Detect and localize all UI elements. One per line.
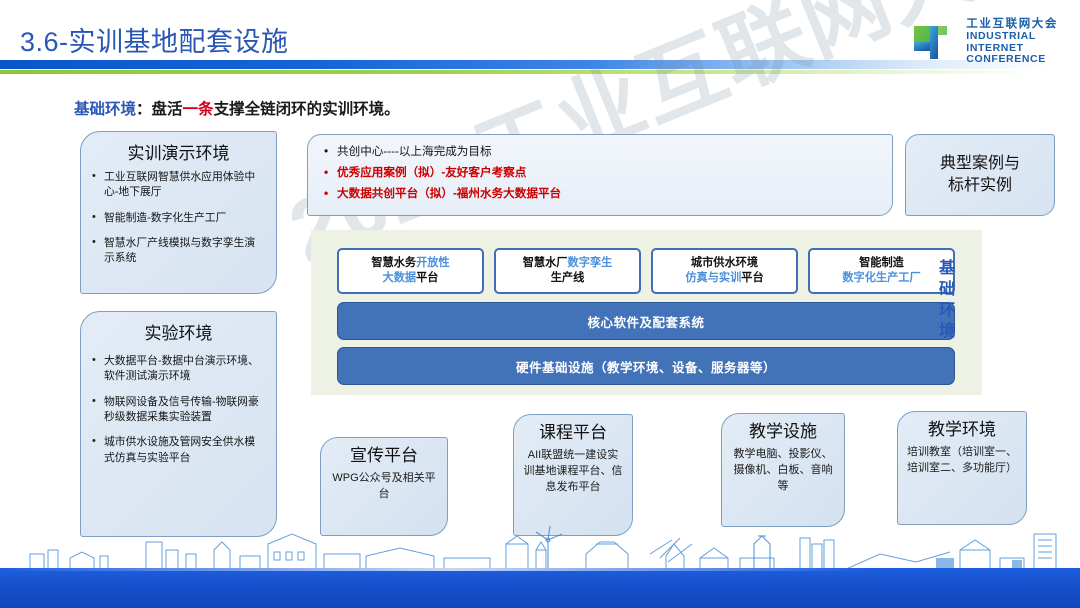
card-title: 实验环境 <box>81 312 276 344</box>
divider-green-bar <box>0 70 1080 74</box>
lead-statement: 基础环境：盘活一条支撑全链闭环的实训环境。 <box>74 97 400 119</box>
card-bullet-list: 工业互联网智慧供水应用体验中心-地下展厅 智能制造-数字化生产工厂 智慧水厂产线… <box>81 164 276 267</box>
card-training-demo-environment[interactable]: 实训演示环境 工业互联网智慧供水应用体验中心-地下展厅 智能制造-数字化生产工厂… <box>80 131 277 294</box>
arch-cell-smart-water-bigdata[interactable]: 智慧水务开放性 大数据平台 <box>337 248 484 294</box>
lead-highlight1: 一条 <box>183 101 214 118</box>
list-item: 物联网设备及信号传输-物联网豪秒级数据采集实验装置 <box>91 395 264 426</box>
card-cocreation-notes[interactable]: 共创中心----以上海完成为目标 优秀应用案例（拟）-友好客户考察点 大数据共创… <box>307 134 893 216</box>
list-item: 智能制造-数字化生产工厂 <box>91 211 264 226</box>
arch-cell-line1-a: 智慧水厂 <box>523 257 568 269</box>
arch-cell-line1-b: 数字孪生 <box>568 257 613 269</box>
note-list: 共创中心----以上海完成为目标 优秀应用案例（拟）-友好客户考察点 大数据共创… <box>308 135 892 202</box>
arch-cell-line2-a: 数字化生产工厂 <box>842 272 920 284</box>
list-item: 智慧水厂产线模拟与数字孪生演示系统 <box>91 236 264 267</box>
arch-cell-water-plant-digital-twin[interactable]: 智慧水厂数字孪生 生产线 <box>494 248 641 294</box>
architecture-panel: 智慧水务开放性 大数据平台 智慧水厂数字孪生 生产线 城市供水环境 仿真与实训平… <box>311 230 982 395</box>
arch-cell-line2-b: 平台 <box>741 272 763 284</box>
lead-colon: ： <box>136 101 152 118</box>
list-item: 工业互联网智慧供水应用体验中心-地下展厅 <box>91 170 264 201</box>
lead-part3: 的实训环境。 <box>307 101 400 118</box>
arch-cell-line1-a: 城市供水环境 <box>691 257 758 269</box>
conference-logo-text: 工业互联网大会 INDUSTRIAL INTERNET CONFERENCE <box>966 18 1058 66</box>
arch-bar-hardware-infrastructure[interactable]: 硬件基础设施（教学环境、设备、服务器等） <box>337 347 955 385</box>
card-title: 课程平台 <box>523 423 623 443</box>
arch-side-label: 基础环境 <box>934 258 960 342</box>
card-title: 实训演示环境 <box>81 132 276 164</box>
note-item-best-practice-case: 优秀应用案例（拟）-友好客户考察点 <box>322 165 892 182</box>
lead-label: 基础环境 <box>74 101 136 118</box>
note-item-bigdata-platform: 大数据共创平台（拟）-福州水务大数据平台 <box>322 186 892 203</box>
architecture-top-row: 智慧水务开放性 大数据平台 智慧水厂数字孪生 生产线 城市供水环境 仿真与实训平… <box>337 248 955 294</box>
card-teaching-facilities[interactable]: 教学设施 教学电脑、投影仪、摄像机、白板、音响等 <box>721 413 845 527</box>
lead-highlight2: 闭环 <box>276 101 307 118</box>
list-item: 大数据平台-数据中台演示环境、软件测试演示环境 <box>91 354 264 385</box>
arch-cell-line2-a: 大数据 <box>383 272 417 284</box>
card-title: 教学设施 <box>731 422 835 442</box>
typical-line-2: 标杆实例 <box>940 175 1020 197</box>
arch-cell-line1-a: 智能制造 <box>859 257 904 269</box>
slide-canvas: 3.6-实训基地配套设施 <box>0 0 1080 608</box>
card-body: 教学电脑、投影仪、摄像机、白板、音响等 <box>731 447 835 495</box>
arch-cell-line2-b: 平台 <box>416 272 438 284</box>
card-body: 培训教室（培训室一、培训室二、多功能厅） <box>907 445 1017 477</box>
list-item: 城市供水设施及管网安全供水模式仿真与实验平台 <box>91 435 264 466</box>
card-title: 教学环境 <box>907 420 1017 440</box>
card-course-platform[interactable]: 课程平台 AII联盟统一建设实训基地课程平台、信息发布平台 <box>513 414 633 536</box>
card-typical-text: 典型案例与 标杆实例 <box>940 153 1020 196</box>
logo-english-line3: CONFERENCE <box>966 54 1058 66</box>
page-title: 3.6-实训基地配套设施 <box>20 20 289 59</box>
arch-cell-smart-manufacturing-factory[interactable]: 智能制造 数字化生产工厂 <box>808 248 955 294</box>
card-title: 宣传平台 <box>330 446 438 466</box>
note-item-cocreation-center: 共创中心----以上海完成为目标 <box>322 144 892 161</box>
arch-bar-core-software[interactable]: 核心软件及配套系统 <box>337 302 955 340</box>
typical-line-1: 典型案例与 <box>940 153 1020 175</box>
card-typical-cases[interactable]: 典型案例与 标杆实例 <box>905 134 1055 216</box>
arch-cell-line2-a: 仿真与实训 <box>685 272 741 284</box>
card-promotion-platform[interactable]: 宣传平台 WPG公众号及相关平台 <box>320 437 448 536</box>
water-band <box>0 568 1080 608</box>
arch-cell-line1-b: 开放性 <box>416 257 450 269</box>
arch-cell-line1-a: 智慧水务 <box>371 257 416 269</box>
arch-cell-urban-water-supply-simulation[interactable]: 城市供水环境 仿真与实训平台 <box>651 248 798 294</box>
card-body: WPG公众号及相关平台 <box>330 471 438 503</box>
card-teaching-environment[interactable]: 教学环境 培训教室（培训室一、培训室二、多功能厅） <box>897 411 1027 525</box>
arch-cell-line2-b: 生产线 <box>551 272 585 284</box>
card-body: AII联盟统一建设实训基地课程平台、信息发布平台 <box>523 448 623 496</box>
logo-english-line1: INDUSTRIAL <box>966 31 1058 43</box>
logo-chinese-name: 工业互联网大会 <box>966 18 1058 31</box>
card-laboratory-environment[interactable]: 实验环境 大数据平台-数据中台演示环境、软件测试演示环境 物联网设备及信号传输-… <box>80 311 277 537</box>
conference-logo-icon <box>909 18 957 66</box>
lead-part1: 盘活 <box>152 101 183 118</box>
conference-logo: 工业互联网大会 INDUSTRIAL INTERNET CONFERENCE <box>909 18 1058 66</box>
lead-part2: 支撑全链 <box>214 101 276 118</box>
card-bullet-list: 大数据平台-数据中台演示环境、软件测试演示环境 物联网设备及信号传输-物联网豪秒… <box>81 344 276 466</box>
